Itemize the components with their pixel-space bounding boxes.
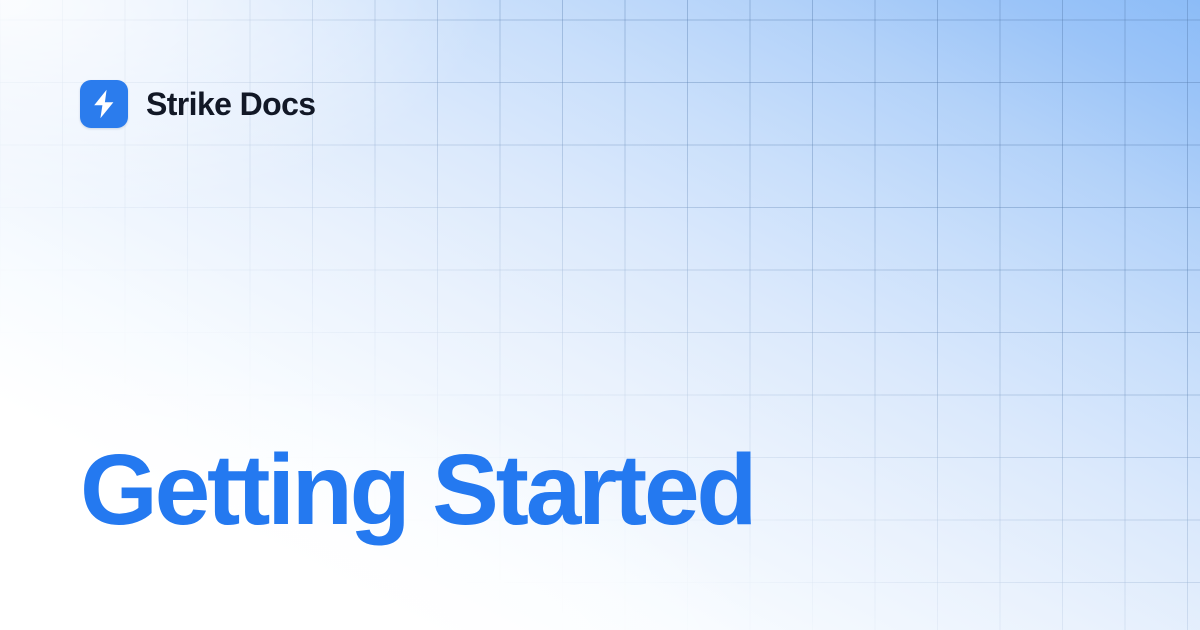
og-card: Strike Docs Getting Started	[0, 0, 1200, 630]
lightning-bolt-icon	[80, 80, 128, 128]
brand-lockup: Strike Docs	[80, 80, 315, 128]
page-title: Getting Started	[80, 440, 754, 540]
brand-name: Strike Docs	[146, 88, 315, 120]
